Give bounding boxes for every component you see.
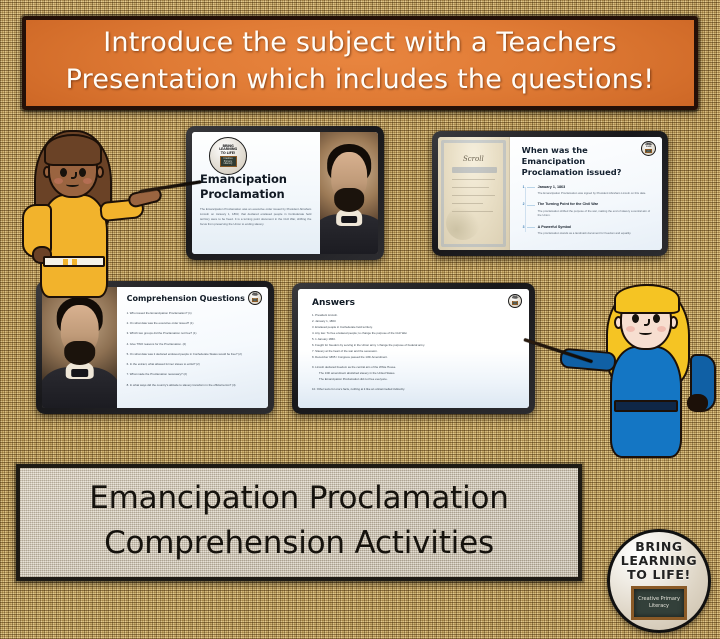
list-item: 3 A Powerful Symbol The proclamation sta… (538, 225, 652, 236)
list-item: The 13th amendment abolished slavery in … (319, 371, 519, 375)
decorative-sprig-icon (446, 206, 480, 240)
chalkboard-icon: Creative Primary Literacy (252, 298, 259, 302)
slide-4-content: BRING LEARNING TO LIFE! Creative Primary… (298, 289, 529, 408)
answer-list: 1. President Lincoln. 2. January 1, 1863… (312, 313, 519, 391)
list-item: 2. January 1, 1863. (312, 319, 519, 323)
hair-top (44, 134, 102, 166)
chalkboard-text: Creative Primary Literacy (221, 158, 236, 166)
list-item: 1. President Lincoln. (312, 313, 519, 317)
slide-2-content: Scroll BRING LEARNING TO LIFE! Creative … (438, 137, 662, 250)
item-body: The Emancipation Proclamation was signed… (538, 191, 652, 196)
slide-1-title: Emancipation Proclamation (200, 172, 311, 201)
poster-canvas: Introduce the subject with a Teachers Pr… (0, 0, 720, 639)
list-item: 8. December 1865 / Congress passed the 1… (312, 355, 519, 359)
slide-1-title-line-1: Emancipation (200, 172, 311, 187)
brand-logo-icon: BRING LEARNING TO LIFE! Creative Primary… (248, 291, 262, 305)
chalkboard-icon: Creative Primary Literacy (645, 149, 652, 154)
chalkboard-icon: Creative Primary Literacy (512, 301, 519, 305)
list-item: 5. On what date was it declared enslaved… (127, 352, 259, 357)
slide-3-title: Comprehension Questions (127, 294, 259, 303)
slide-2-text-panel: BRING LEARNING TO LIFE! Creative Primary… (510, 137, 662, 250)
right-hand (687, 394, 708, 412)
slide-thumbnail-answers[interactable]: BRING LEARNING TO LIFE! Creative Primary… (292, 283, 535, 414)
brand-logo-icon: BRING LEARNING TO LIFE! Creative Primary… (508, 294, 522, 308)
item-number: 1 (523, 185, 525, 189)
teacher-character-right (590, 284, 714, 466)
chalkboard-text: Creative Primary Literacy (513, 302, 518, 305)
list-item: 3. Enslaved people in Confederate held t… (312, 325, 519, 329)
hair-top (614, 284, 680, 314)
brand-logo-line-3: TO LIFE! (627, 568, 691, 582)
list-item: 1. Who issued the Emancipation Proclamat… (127, 311, 259, 316)
item-dash-icon (527, 187, 535, 188)
slide-thumbnail-title[interactable]: BRING LEARNING TO LIFE! Creative Primary… (186, 126, 384, 260)
headline-line-1: Introduce the subject with a Teachers (103, 24, 617, 61)
list-item: 5. 1 January 1863. (312, 337, 519, 341)
item-number: 2 (523, 202, 525, 206)
list-item: 4. Any two: To free enslaved people; to … (312, 331, 519, 335)
item-body: The proclamation stands as a landmark do… (538, 231, 652, 236)
list-item: 8. In what ways did the country's attitu… (127, 383, 259, 388)
list-item: 9. Lincoln declared freedom as the centr… (312, 365, 519, 369)
slide-thumbnail-question[interactable]: Scroll BRING LEARNING TO LIFE! Creative … (432, 131, 668, 256)
chalkboard-text: Creative Primary Literacy (253, 299, 258, 302)
brand-logo-icon: BRING LEARNING TO LIFE! Creative Primary… (209, 137, 247, 175)
logo-line-3: TO LIFE! (221, 152, 235, 156)
teacher-character-left (16, 128, 142, 320)
slide-1-title-line-2: Proclamation (200, 187, 311, 202)
brand-logo-line-2: LEARNING (621, 554, 697, 568)
list-item: The Emancipation Proclamation did not fr… (319, 377, 519, 381)
slide-1-text-panel: BRING LEARNING TO LIFE! Creative Primary… (192, 132, 320, 254)
list-item: 4. Give TWO reasons for the Proclamation… (127, 342, 259, 347)
list-item: 10. Other texts for one's facts, nothing… (312, 387, 519, 391)
chalkboard-icon: Creative Primary Literacy (220, 156, 237, 167)
list-item: 7. Slavery at the heart of the war and t… (312, 349, 519, 353)
item-number: 3 (523, 225, 525, 229)
belt (614, 400, 678, 412)
list-item: 1 January 1, 1863 The Emancipation Procl… (538, 185, 652, 196)
item-title: A Powerful Symbol (538, 225, 652, 230)
question-list: 1. Who issued the Emancipation Proclamat… (127, 311, 259, 387)
item-dash-icon (527, 227, 535, 228)
list-item: 2 The Turning Point for the Civil War Th… (538, 202, 652, 218)
item-title: January 1, 1863 (538, 185, 652, 190)
slide-4-title: Answers (312, 298, 519, 308)
slide-1-body-text: The Emancipation Proclamation was an exe… (200, 207, 311, 227)
item-body: The proclamation shifted the purpose of … (538, 209, 652, 219)
belt (43, 256, 105, 267)
list-item: 3. Which two groups did the Proclamation… (127, 331, 259, 336)
chalkboard-text: Creative Primary Literacy (646, 149, 651, 152)
headline-banner: Introduce the subject with a Teachers Pr… (22, 16, 698, 110)
bottom-title-line-2: Comprehension Activities (104, 521, 494, 565)
item-dash-icon (527, 205, 535, 206)
item-title: The Turning Point for the Civil War (538, 202, 652, 207)
chalkboard-icon: Creative Primary Literacy (631, 586, 687, 620)
scroll-document-image: Scroll (438, 137, 510, 250)
slide-2-title: When was the Emancipation Proclamation i… (522, 145, 650, 178)
chalkboard-text: Creative Primary Literacy (634, 596, 684, 611)
brand-logo-badge: BRING LEARNING TO LIFE! Creative Primary… (607, 529, 711, 633)
slide-4-text-panel: BRING LEARNING TO LIFE! Creative Primary… (298, 289, 529, 408)
headline-line-2: Presentation which includes the question… (66, 61, 655, 98)
list-item: 6. Fought for freedom by serving in the … (312, 343, 519, 347)
brand-logo-icon: BRING LEARNING TO LIFE! Creative Primary… (641, 141, 656, 156)
scroll-heading-bar (452, 167, 497, 173)
lincoln-portrait-image (320, 132, 378, 254)
slide-2-answer-options: 1 January 1, 1863 The Emancipation Procl… (522, 185, 652, 236)
bottom-title-line-1: Emancipation Proclamation (89, 476, 508, 520)
slide-1-content: BRING LEARNING TO LIFE! Creative Primary… (192, 132, 378, 254)
list-item: 6. In the extract, what allowed former s… (127, 362, 259, 367)
list-item: 2. On what date was the executive order … (127, 321, 259, 326)
list-item: 7. What made the Proclamation necessary?… (127, 372, 259, 377)
brand-logo-line-1: BRING (635, 540, 683, 554)
scroll-label: Scroll (438, 155, 509, 163)
bottom-title-banner: Emancipation Proclamation Comprehension … (16, 464, 582, 581)
